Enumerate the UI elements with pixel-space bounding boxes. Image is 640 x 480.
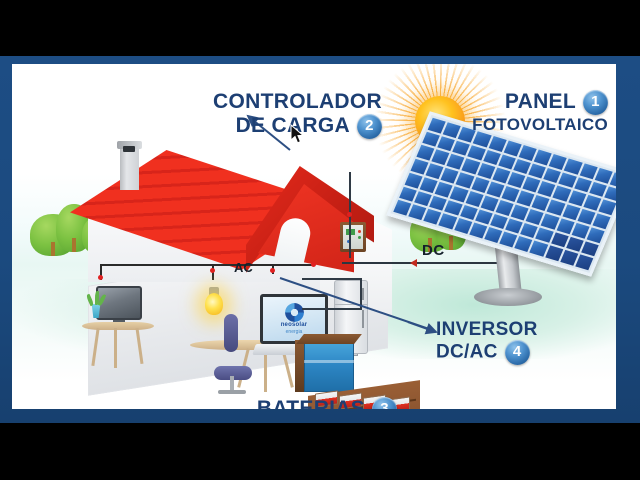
solar-cell (581, 241, 599, 257)
ceiling-wire (100, 264, 314, 266)
ac-label: AC (234, 260, 253, 275)
label-line-2: DC/AC (436, 342, 498, 363)
wire-node (311, 262, 316, 267)
cable-node (347, 212, 352, 217)
panel-base (474, 288, 542, 306)
letterbox-bottom (0, 423, 640, 480)
label-line-1: PANEL (505, 90, 576, 113)
solar-cell (592, 213, 610, 229)
screenshot-stage: neosolar energia (0, 0, 640, 480)
wire-node (270, 268, 275, 273)
label-inverter: INVERSOR DC/AC4 (382, 319, 572, 365)
label-photovoltaic-panel: PANEL1 FOTOVOLTAICO (412, 90, 608, 134)
slide-frame: neosolar energia (0, 56, 640, 423)
charge-controller-device (340, 222, 366, 252)
label-line-1: BATERIAS (257, 397, 365, 409)
badge-1[interactable]: 1 (583, 90, 608, 115)
wire-node (98, 275, 103, 280)
label-line-1-row: PANEL1 (412, 90, 608, 115)
inverter-feed-cable (360, 278, 362, 310)
label-charge-controller: CONTROLADOR DE CARGA2 (152, 90, 382, 139)
solar-system-diagram: neosolar energia (12, 64, 616, 409)
desk-lamp (200, 279, 228, 319)
label-batteries: BATERIAS3 (212, 397, 442, 409)
solar-panel (408, 142, 616, 277)
inverter-out-cable (302, 278, 362, 280)
side-table-legs (88, 328, 148, 368)
letterbox-top (0, 0, 640, 56)
brand-logo-icon (285, 303, 304, 322)
badge-4[interactable]: 4 (505, 340, 530, 365)
brand-name: neosolar (281, 322, 308, 329)
chimney-opening (123, 146, 135, 152)
label-line-1: CONTROLADOR (152, 90, 382, 114)
solar-cell (604, 186, 616, 202)
solar-cell (598, 200, 616, 216)
office-chair (212, 314, 252, 394)
mouse-cursor-icon (290, 124, 306, 146)
brand-tagline: energia (286, 329, 303, 335)
label-line-2-row: DE CARGA2 (152, 114, 382, 139)
badge-2[interactable]: 2 (357, 114, 382, 139)
inverter-to-battery-cable (302, 308, 362, 310)
badge-3[interactable]: 3 (372, 397, 397, 409)
inverter-device (304, 340, 354, 392)
label-line-1: INVERSOR (436, 319, 572, 340)
slide-content: neosolar energia (12, 64, 616, 409)
solar-cell (587, 227, 605, 243)
solar-cell (575, 255, 593, 271)
label-line-2-row: DC/AC4 (436, 340, 572, 365)
house-illustration: neosolar energia (72, 144, 412, 374)
label-line-2: FOTOVOLTAICO (412, 115, 608, 134)
wire-node (210, 268, 215, 273)
television (96, 286, 142, 320)
